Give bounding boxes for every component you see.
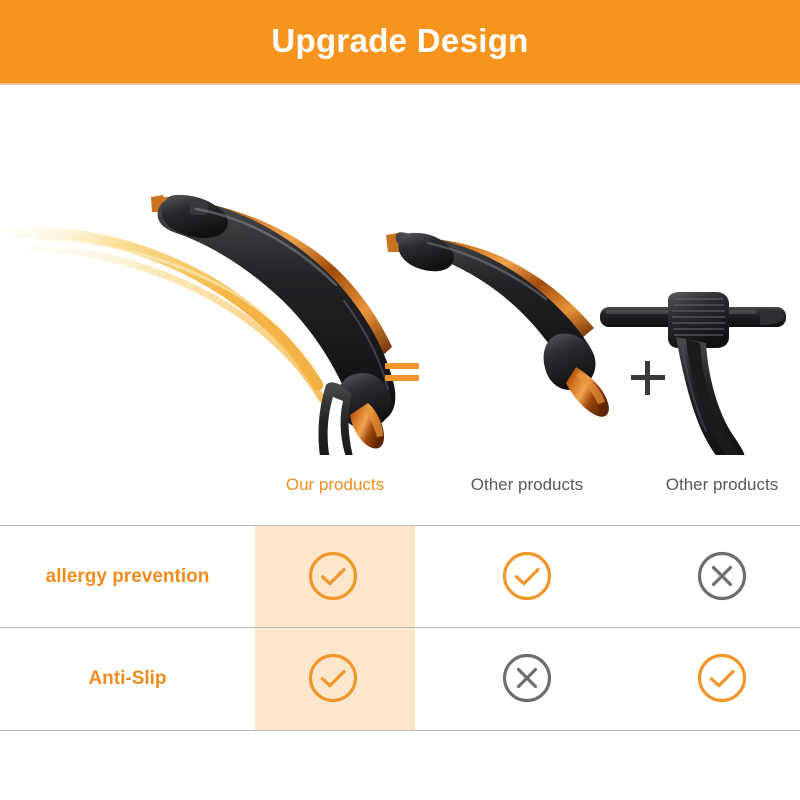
header-banner: Upgrade Design: [0, 0, 800, 83]
table-rule-bottom: [0, 730, 800, 731]
column-header-other-products-1: Other products: [447, 473, 607, 497]
product-ear-hook: [600, 292, 786, 455]
cross-circle-icon: [501, 652, 553, 704]
page-title: Upgrade Design: [271, 24, 528, 57]
table-rule-middle: [0, 627, 800, 628]
column-header-our-products: Our products: [255, 473, 415, 497]
check-circle-icon: [307, 652, 359, 704]
table-header-row: Our products Other products Other produc…: [0, 473, 800, 513]
table-rule-top: [0, 525, 800, 526]
product-plain-temple: [386, 232, 609, 417]
row-label-allergy-prevention: allergy prevention: [0, 566, 255, 588]
comparison-table: Our products Other products Other produc…: [0, 455, 800, 735]
column-header-other-products-2: Other products: [642, 473, 800, 497]
check-circle-icon: [501, 550, 553, 602]
hero-illustration: [0, 85, 800, 455]
plus-operator-icon: [631, 361, 665, 395]
check-circle-icon: [307, 550, 359, 602]
equals-operator-icon: [385, 363, 419, 385]
hero-product-graphic: [0, 85, 800, 455]
check-circle-icon: [696, 652, 748, 704]
cross-circle-icon: [696, 550, 748, 602]
row-label-anti-slip: Anti-Slip: [0, 668, 255, 690]
product-infographic-page: Upgrade Design: [0, 0, 800, 800]
